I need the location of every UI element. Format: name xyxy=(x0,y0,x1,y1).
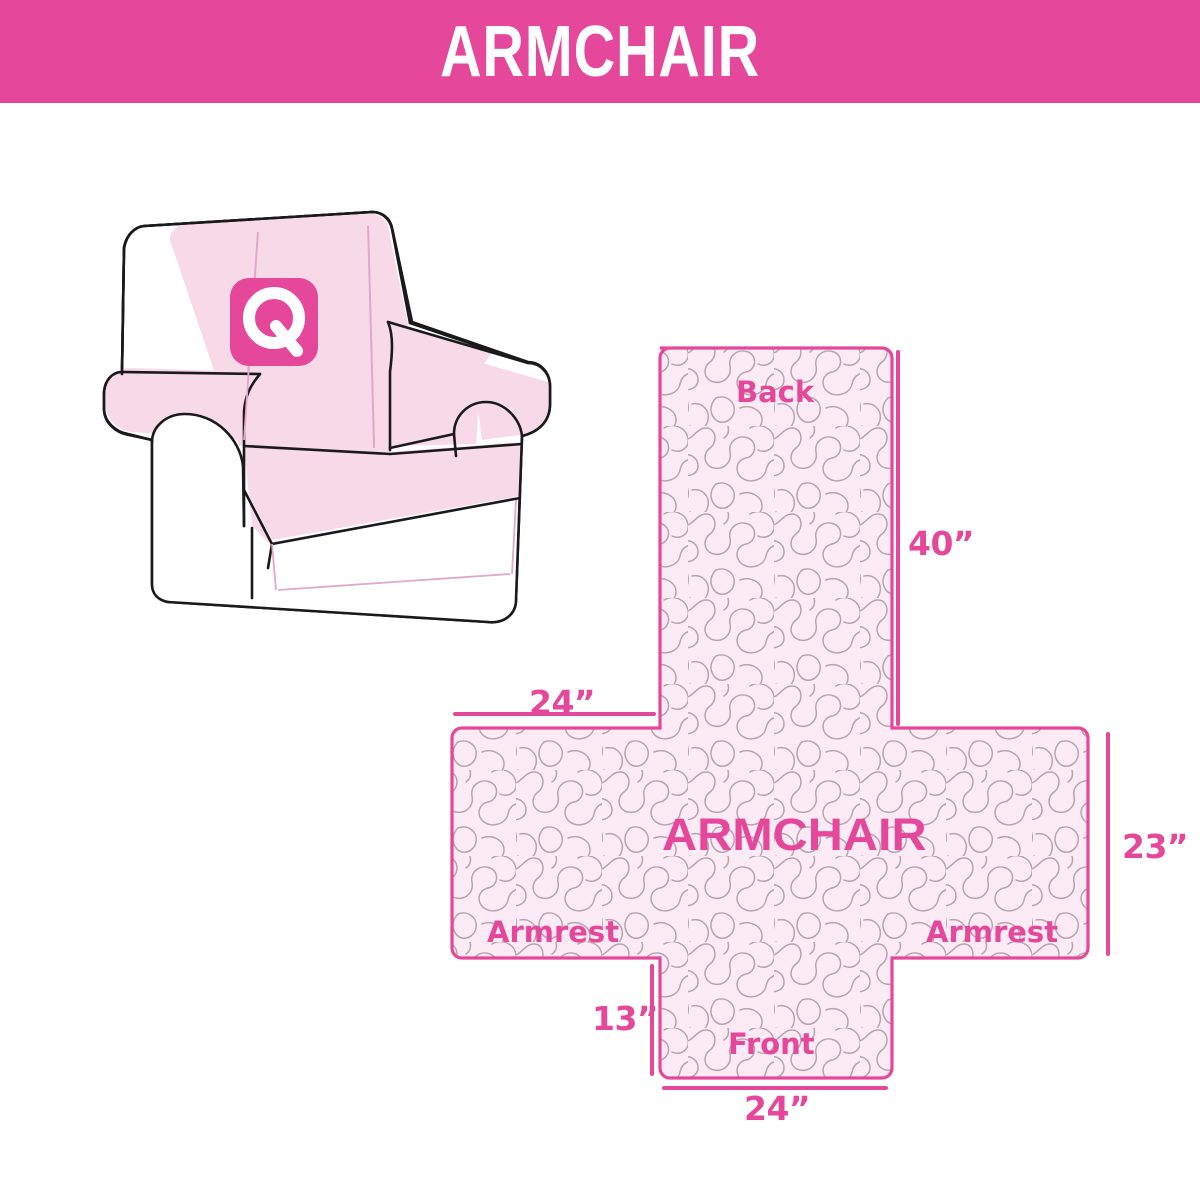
q-logo-badge xyxy=(230,278,318,366)
slipcover-flat-diagram xyxy=(430,340,1200,1150)
dimension-label-center-height: 23” xyxy=(1122,830,1188,863)
page-title: ARMCHAIR xyxy=(120,0,1080,103)
panel-label-back: Back xyxy=(736,378,814,407)
size-chart-page: ARMCHAIR xyxy=(0,0,1200,1200)
dimension-label-front-length: 13” xyxy=(592,1002,658,1035)
dimension-label-back-length: 40” xyxy=(908,527,974,560)
header-banner: ARMCHAIR xyxy=(0,0,1200,103)
panel-label-front: Front xyxy=(728,1030,815,1059)
cross-panel-shape xyxy=(430,340,1200,1150)
panel-label-armrest-right: Armrest xyxy=(926,918,1058,947)
panel-label-armrest-left: Armrest xyxy=(487,918,619,947)
diagram-center-label: ARMCHAIR xyxy=(662,812,927,857)
dimension-label-armrest-width: 24” xyxy=(529,686,595,719)
dimension-label-front-width: 24” xyxy=(744,1092,810,1125)
